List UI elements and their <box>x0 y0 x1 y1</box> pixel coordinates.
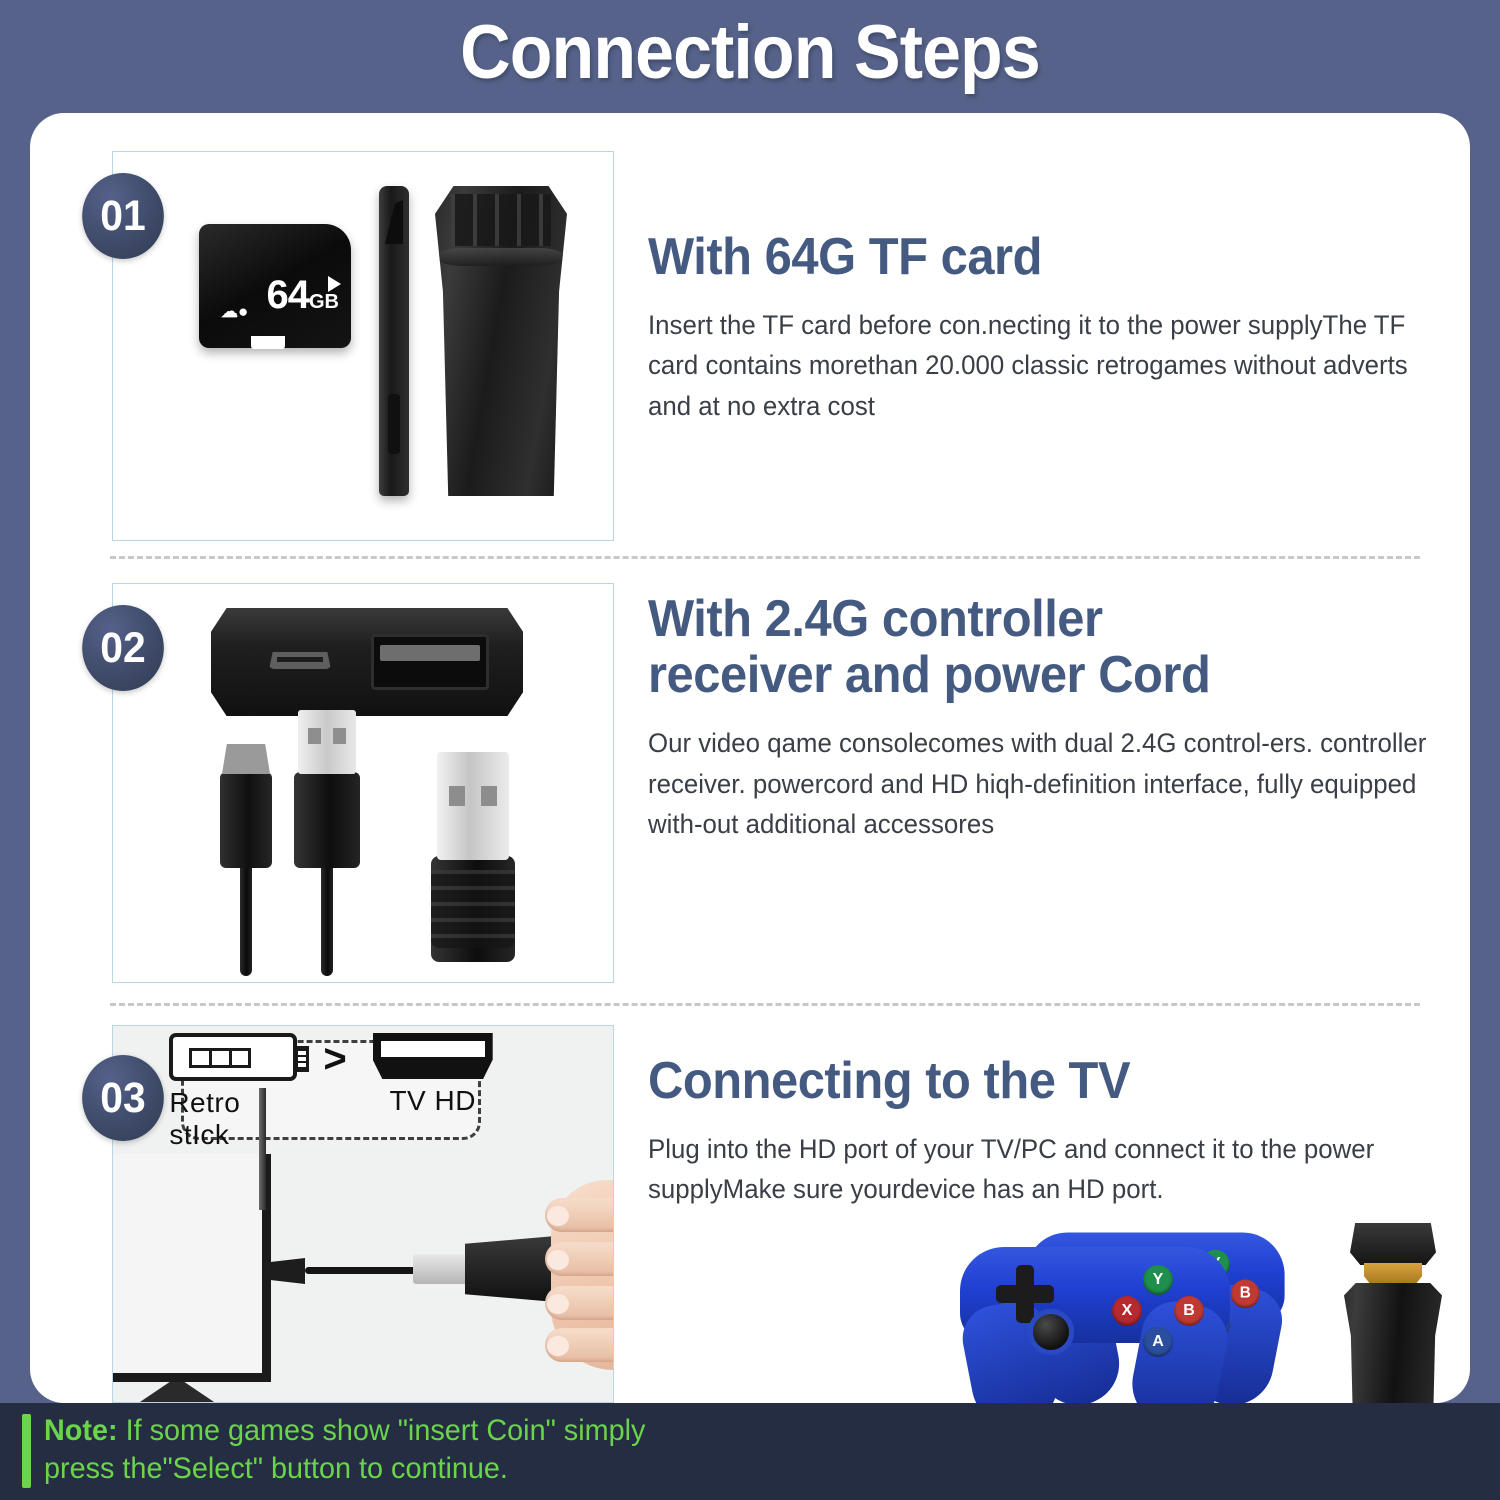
fingernail-1 <box>547 1206 569 1226</box>
dongle-grip-ridges <box>431 870 515 948</box>
tv-cord <box>259 1088 266 1210</box>
tv-screen-image <box>113 1154 271 1382</box>
stick-cap <box>1350 1223 1436 1265</box>
gamepad-front-button-x: X <box>1112 1296 1142 1326</box>
usb-a-plug <box>294 772 360 868</box>
stick-seam-band <box>437 248 565 266</box>
gamepad-back-button-b: B <box>1231 1279 1260 1308</box>
step-3-body: Plug into the HD port of your TV/PC and … <box>648 1129 1428 1210</box>
step-1-title: With 64G TF card <box>648 229 1391 285</box>
steps-card: ☁● 64GB 01 With 64G TF card Insert the T… <box>30 113 1470 1403</box>
legend-target: TV HD <box>373 1033 493 1117</box>
finger-1 <box>545 1198 614 1232</box>
tv-connection-scene <box>113 1136 614 1403</box>
controllers-product-shot: Y X B A Y X B A <box>960 1223 1390 1403</box>
stick-connector-pins <box>295 1046 309 1072</box>
usb-receiver-dongle-image <box>431 856 515 962</box>
stick-body <box>1344 1283 1442 1403</box>
micro-usb-port-icon <box>269 652 331 669</box>
stick-vent-ribs <box>451 194 551 246</box>
usb-a-port-icon <box>371 634 489 690</box>
finger-4 <box>545 1328 614 1362</box>
note-label: Note: <box>44 1414 118 1447</box>
microsd-logo-icon: ☁● <box>221 304 248 320</box>
retro-stick-front-view-image <box>435 186 567 496</box>
retro-stick-icon <box>169 1033 297 1081</box>
stick-port-edge-image <box>211 608 523 716</box>
page-title: Connection Steps <box>60 14 1440 92</box>
gamepad-front-face-buttons: Y X B A <box>1112 1265 1204 1357</box>
step-2-text: With 2.4G controller receiver and power … <box>648 591 1448 844</box>
fingernail-4 <box>547 1336 569 1356</box>
step-1-text: With 64G TF card Insert the TF card befo… <box>648 229 1438 426</box>
divider-2 <box>110 1003 1420 1006</box>
tv-stand <box>131 1382 223 1403</box>
step-3-text: Connecting to the TV Plug into the HD po… <box>648 1053 1448 1210</box>
connection-legend: Retro stIck > TV HD <box>181 1040 481 1140</box>
microsd-capacity-label: 64GB <box>267 273 340 318</box>
usb-male-connector <box>413 1254 471 1284</box>
usb-a-plug-tip <box>298 710 356 774</box>
step-2-title-line-1: With 2.4G controller <box>648 591 1400 647</box>
gamepad-front-button-b: B <box>1174 1296 1204 1326</box>
note-accent-bar <box>22 1414 31 1488</box>
note-text: Note: If some games show "insert Coin" s… <box>44 1412 658 1489</box>
gamepad-front-analog-stick <box>1028 1309 1074 1355</box>
micro-usb-plug-tip <box>222 744 270 774</box>
cable-wire-left <box>240 856 252 976</box>
dongle-usb-contact <box>437 752 509 860</box>
hand-image <box>551 1180 614 1370</box>
cable-wire-right <box>321 856 333 976</box>
step-2-number-badge: 02 <box>82 605 164 691</box>
step-3-image-panel: Retro stIck > TV HD <box>112 1025 614 1403</box>
step-2-title-line-2: receiver and power Cord <box>648 647 1400 703</box>
step-1-body: Insert the TF card before con.necting it… <box>648 305 1418 426</box>
gamepad-front-button-a: A <box>1143 1327 1173 1357</box>
step-2-image-panel <box>112 583 614 983</box>
microsd-card-image: ☁● 64GB <box>199 224 351 348</box>
stick-indicator-cells <box>189 1048 251 1068</box>
extension-cable-wire <box>305 1267 417 1274</box>
gamepad-front: Y X B A <box>960 1247 1230 1403</box>
gamepad-front-button-y: Y <box>1143 1265 1173 1295</box>
finger-3 <box>545 1286 614 1320</box>
step-2-body: Our video qame consolecomes with dual 2.… <box>648 723 1428 844</box>
legend-arrow-icon: > <box>323 1037 346 1082</box>
step-1-image-panel: ☁● 64GB <box>112 151 614 541</box>
hdmi-game-stick-image <box>1336 1223 1456 1403</box>
step-3-number-badge: 03 <box>82 1055 164 1141</box>
note-body: If some games show "insert Coin" simply … <box>44 1414 645 1485</box>
finger-2 <box>545 1242 614 1276</box>
legend-target-label: TV HD <box>389 1085 476 1117</box>
hdmi-gold-connector <box>1364 1263 1422 1285</box>
retro-stick-side-view-image <box>379 186 409 496</box>
step-3-title: Connecting to the TV <box>648 1053 1400 1109</box>
hdmi-port-icon <box>373 1033 493 1079</box>
divider-1 <box>110 556 1420 559</box>
fingernail-3 <box>547 1294 569 1314</box>
hdmi-plug-icon <box>265 1258 305 1284</box>
step-1-number-badge: 01 <box>82 173 164 259</box>
micro-usb-plug <box>220 772 272 868</box>
fingernail-2 <box>547 1250 569 1270</box>
legend-source: Retro stIck <box>169 1033 297 1151</box>
